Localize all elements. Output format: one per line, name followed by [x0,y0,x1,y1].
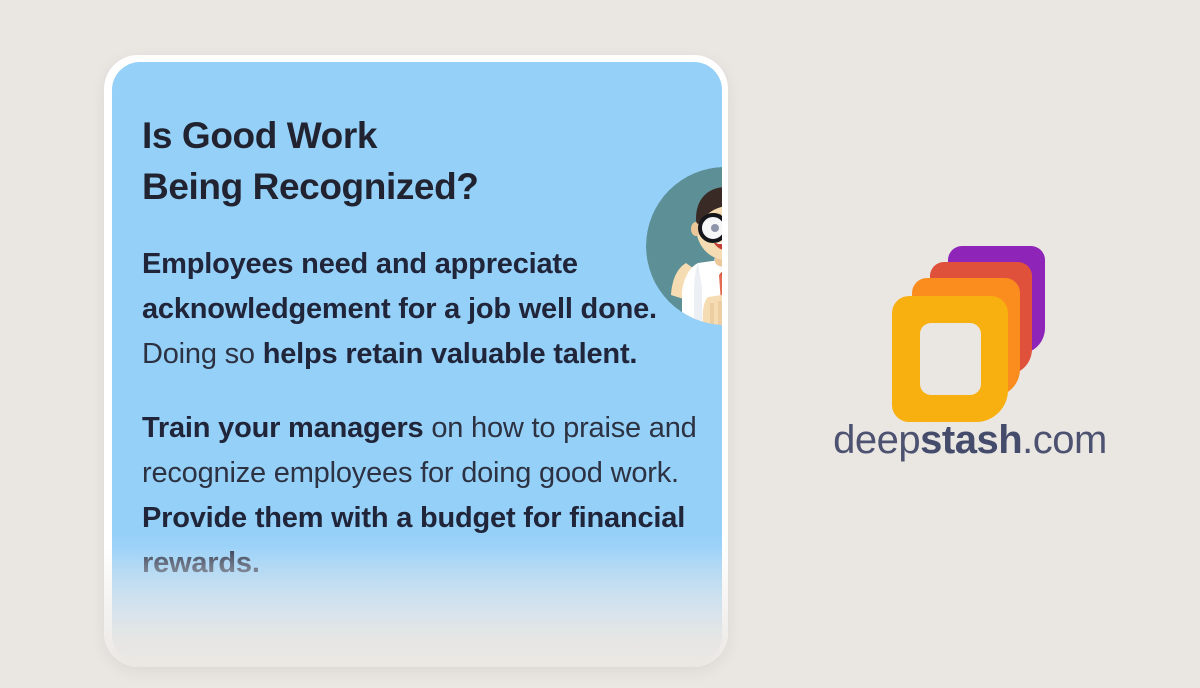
paragraph-train-managers: Train your managers on how to praise and… [142,406,714,585]
page-title: Is Good Work Being Recognized? [142,110,542,212]
wordmark-deep: deep [833,418,920,462]
brand-block: deepstash.com [790,240,1150,463]
wordmark-stash: stash [920,418,1022,462]
page-title-line-2: Being Recognized? [142,166,479,207]
paragraph-train-managers-segment-1: Train your managers [142,412,423,444]
content-card-frame: Is Good Work Being Recognized? Employees… [104,55,728,667]
content-card: Is Good Work Being Recognized? Employees… [112,62,722,663]
paragraph-train-managers-segment-3: Provide them with a budget for financial… [142,502,685,579]
wordmark-dotcom: .com [1022,418,1107,462]
deepstash-stacked-squares-logo-icon [886,240,1054,392]
page-title-line-1: Is Good Work [142,115,377,156]
paragraph-employees-segment-3: helps retain valuable talent. [263,338,638,370]
paragraph-employees: Employees need and appreciate acknowledg… [142,242,714,376]
paragraph-employees-segment-2: Doing so [142,338,263,370]
brand-wordmark: deepstash.com [790,418,1150,463]
card-content: Is Good Work Being Recognized? Employees… [112,62,722,586]
logo-square-cutout [920,323,981,395]
paragraph-employees-segment-1: Employees need and appreciate acknowledg… [142,248,657,325]
